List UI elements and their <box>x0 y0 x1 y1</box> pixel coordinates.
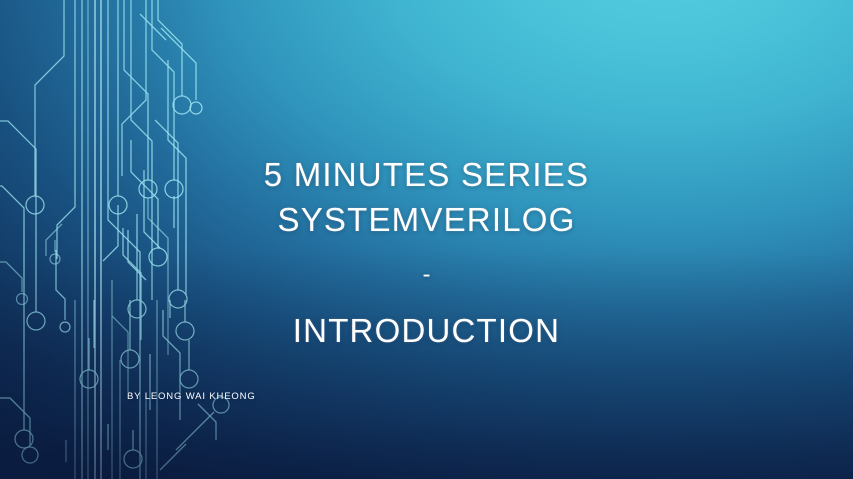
title-slide: 5 MINUTES SERIES SYSTEMVERILOG - INTRODU… <box>0 0 853 479</box>
byline-author: BY LEONG WAI KHEONG <box>127 391 256 402</box>
title-block: 5 MINUTES SERIES SYSTEMVERILOG - INTRODU… <box>0 152 853 353</box>
title-line-2: SYSTEMVERILOG <box>0 197 853 242</box>
title-line-1: 5 MINUTES SERIES <box>0 152 853 197</box>
title-spacer <box>0 242 853 253</box>
title-line-4: INTRODUCTION <box>0 308 853 353</box>
title-separator-dash: - <box>0 253 853 297</box>
title-spacer-2 <box>0 297 853 308</box>
